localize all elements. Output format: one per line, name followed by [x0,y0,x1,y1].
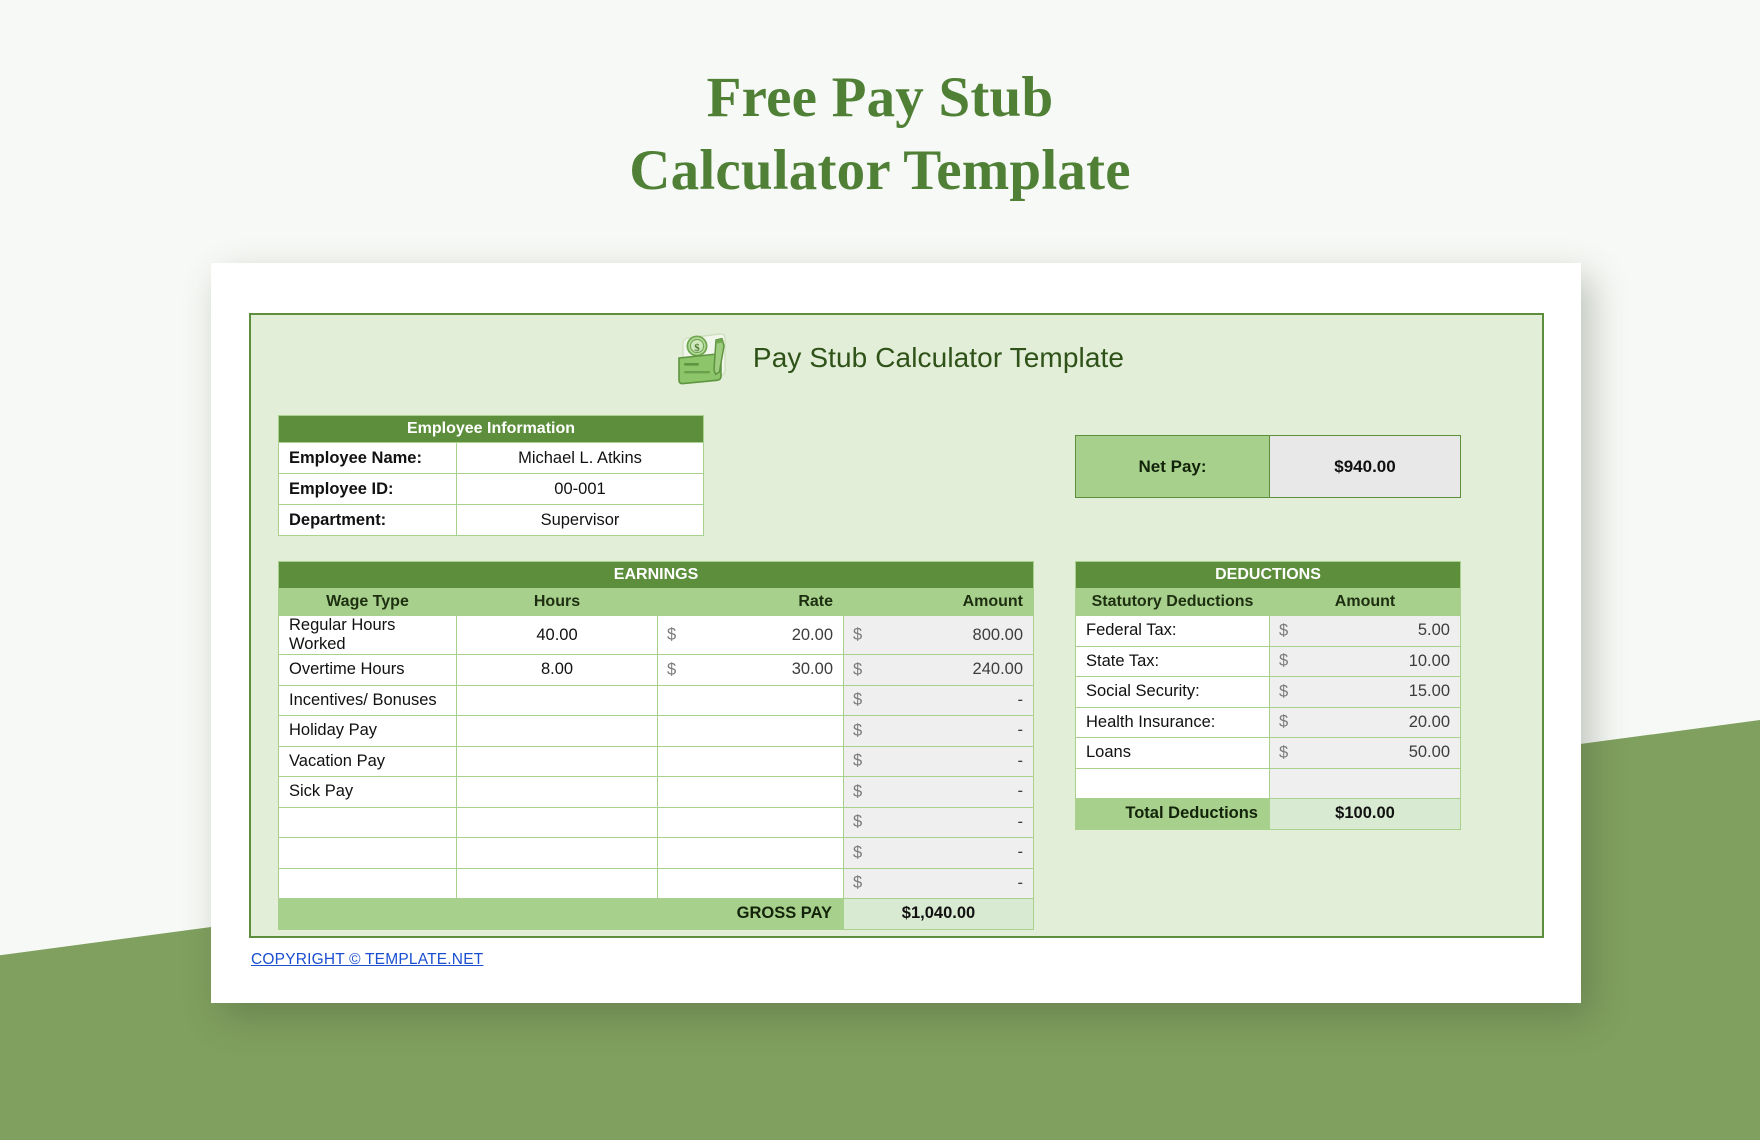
page-title-line-2: Calculator Template [0,135,1760,208]
money-checkbook-icon: $ [673,330,735,386]
deduction-amount-value: 5.00 [1418,621,1450,639]
earnings-hours[interactable] [457,838,658,869]
employee-info-header: Employee Information [279,416,704,443]
earnings-amount: $ 800.00 [844,616,1034,655]
table-row: Social Security: $ 15.00 [1076,677,1461,708]
table-row: Holiday Pay $ - [279,716,1034,747]
deduction-amount-value: 10.00 [1409,652,1450,670]
earnings-amount: $ 240.00 [844,655,1034,686]
deduction-amount[interactable] [1270,768,1461,799]
earnings-hours[interactable]: 8.00 [457,655,658,686]
panel-header: $ Pay Stub Calculator Template [251,323,1546,393]
deduction-label: Federal Tax: [1076,616,1270,647]
deductions-col-statutory: Statutory Deductions [1076,589,1270,616]
panel-title: Pay Stub Calculator Template [753,342,1124,374]
department-value[interactable]: Supervisor [457,505,704,536]
earnings-amount: $ - [844,746,1034,777]
currency-symbol: $ [1279,652,1288,671]
table-row: Employee ID: 00-001 [279,474,704,505]
earnings-column-header-row: Wage Type Hours Rate Amount [279,589,1034,616]
page-title: Free Pay Stub Calculator Template [0,62,1760,208]
earnings-amount: $ - [844,716,1034,747]
currency-symbol: $ [1279,682,1288,701]
department-label: Department: [279,505,457,536]
total-deductions-row: Total Deductions $100.00 [1076,799,1461,830]
net-pay-box: Net Pay: $940.00 [1075,435,1461,498]
employee-id-label: Employee ID: [279,474,457,505]
earnings-amount-value: - [1018,691,1024,709]
table-row: Loans $ 50.00 [1076,738,1461,769]
earnings-wage-type[interactable]: Incentives/ Bonuses [279,685,457,716]
earnings-amount-value: - [1018,813,1024,831]
employee-name-label: Employee Name: [279,443,457,474]
earnings-amount: $ - [844,868,1034,899]
deductions-table: DEDUCTIONS Statutory Deductions Amount F… [1075,561,1461,830]
table-row: Federal Tax: $ 5.00 [1076,616,1461,647]
earnings-rate[interactable] [658,868,844,899]
table-row: $ - [279,807,1034,838]
earnings-amount: $ - [844,807,1034,838]
earnings-rate[interactable] [658,807,844,838]
total-deductions-label: Total Deductions [1076,799,1270,830]
employee-name-value[interactable]: Michael L. Atkins [457,443,704,474]
earnings-amount-value: 800.00 [973,626,1023,644]
earnings-wage-type[interactable] [279,868,457,899]
total-deductions-value: $100.00 [1270,799,1461,830]
earnings-amount-value: - [1018,721,1024,739]
currency-symbol: $ [1279,713,1288,732]
currency-symbol: $ [853,660,862,679]
deduction-label: Social Security: [1076,677,1270,708]
currency-symbol: $ [1279,621,1288,640]
currency-symbol: $ [853,782,862,801]
table-row: State Tax: $ 10.00 [1076,646,1461,677]
net-pay-row: Net Pay: $940.00 [1076,436,1461,498]
currency-symbol: $ [853,874,862,893]
earnings-wage-type[interactable]: Overtime Hours [279,655,457,686]
earnings-amount-value: - [1018,843,1024,861]
currency-symbol: $ [853,626,862,645]
document-card: $ Pay Stub Calculator Template [211,263,1581,1003]
earnings-rate-value: 30.00 [792,660,833,678]
earnings-col-amount: Amount [844,589,1034,616]
net-pay-label: Net Pay: [1076,436,1270,498]
earnings-wage-type[interactable] [279,807,457,838]
gross-pay-row: GROSS PAY $1,040.00 [279,899,1034,930]
deduction-amount-value: 50.00 [1409,743,1450,761]
earnings-amount-value: - [1018,752,1024,770]
earnings-rate[interactable]: $ 30.00 [658,655,844,686]
earnings-hours[interactable] [457,716,658,747]
earnings-rate[interactable] [658,716,844,747]
earnings-wage-type[interactable]: Sick Pay [279,777,457,808]
earnings-col-wage-type: Wage Type [279,589,457,616]
earnings-amount: $ - [844,777,1034,808]
deduction-label: Health Insurance: [1076,707,1270,738]
earnings-amount-value: - [1018,782,1024,800]
deduction-label: Loans [1076,738,1270,769]
earnings-hours[interactable] [457,685,658,716]
deduction-label[interactable] [1076,768,1270,799]
deductions-header-row: DEDUCTIONS [1076,562,1461,589]
currency-symbol: $ [1279,743,1288,762]
currency-symbol: $ [667,626,676,645]
page-title-line-1: Free Pay Stub [707,66,1054,129]
copyright-link[interactable]: COPYRIGHT © TEMPLATE.NET [251,951,483,969]
earnings-col-hours: Hours [457,589,658,616]
earnings-rate-value: 20.00 [792,626,833,644]
deductions-header: DEDUCTIONS [1076,562,1461,589]
deduction-label: State Tax: [1076,646,1270,677]
deduction-amount[interactable]: $ 15.00 [1270,677,1461,708]
table-row: Incentives/ Bonuses $ - [279,685,1034,716]
earnings-hours[interactable] [457,746,658,777]
earnings-amount-value: 240.00 [973,660,1023,678]
earnings-wage-type[interactable]: Regular Hours Worked [279,616,457,655]
earnings-amount-value: - [1018,874,1024,892]
earnings-header: EARNINGS [279,562,1034,589]
currency-symbol: $ [667,660,676,679]
gross-pay-label: GROSS PAY [279,899,844,930]
gross-pay-value: $1,040.00 [844,899,1034,930]
table-row: Department: Supervisor [279,505,704,536]
table-row: Overtime Hours 8.00 $ 30.00 $ 240.00 [279,655,1034,686]
deductions-column-header-row: Statutory Deductions Amount [1076,589,1461,616]
earnings-hours[interactable]: 40.00 [457,616,658,655]
earnings-wage-type[interactable]: Holiday Pay [279,716,457,747]
currency-symbol: $ [853,752,862,771]
svg-text:$: $ [694,342,700,354]
earnings-hours[interactable] [457,807,658,838]
deductions-col-amount: Amount [1270,589,1461,616]
deduction-amount-value: 15.00 [1409,682,1450,700]
earnings-amount: $ - [844,685,1034,716]
table-row: Vacation Pay $ - [279,746,1034,777]
earnings-rate[interactable] [658,685,844,716]
earnings-rate[interactable] [658,777,844,808]
table-row: $ - [279,838,1034,869]
earnings-rate[interactable] [658,838,844,869]
currency-symbol: $ [853,843,862,862]
employee-info-header-row: Employee Information [279,416,704,443]
currency-symbol: $ [853,721,862,740]
table-row: Health Insurance: $ 20.00 [1076,707,1461,738]
table-row: $ - [279,868,1034,899]
paystub-panel: $ Pay Stub Calculator Template [249,313,1544,938]
deduction-amount-value: 20.00 [1409,713,1450,731]
earnings-hours[interactable] [457,868,658,899]
table-row: Employee Name: Michael L. Atkins [279,443,704,474]
earnings-wage-type[interactable] [279,838,457,869]
deduction-amount[interactable]: $ 20.00 [1270,707,1461,738]
deduction-amount[interactable]: $ 10.00 [1270,646,1461,677]
earnings-wage-type[interactable]: Vacation Pay [279,746,457,777]
deduction-amount[interactable]: $ 5.00 [1270,616,1461,647]
currency-symbol: $ [853,691,862,710]
net-pay-value: $940.00 [1270,436,1461,498]
page-root: Free Pay Stub Calculator Template $ [0,0,1760,1140]
earnings-col-rate: Rate [658,589,844,616]
earnings-hours[interactable] [457,777,658,808]
earnings-rate[interactable]: $ 20.00 [658,616,844,655]
currency-symbol: $ [853,813,862,832]
earnings-header-row: EARNINGS [279,562,1034,589]
earnings-table: EARNINGS Wage Type Hours Rate Amount Reg… [278,561,1034,930]
earnings-rate[interactable] [658,746,844,777]
employee-id-value[interactable]: 00-001 [457,474,704,505]
table-row: Regular Hours Worked 40.00 $ 20.00 $ 800… [279,616,1034,655]
deduction-amount[interactable]: $ 50.00 [1270,738,1461,769]
table-row [1076,768,1461,799]
table-row: Sick Pay $ - [279,777,1034,808]
earnings-amount: $ - [844,838,1034,869]
employee-information-table: Employee Information Employee Name: Mich… [278,415,704,536]
